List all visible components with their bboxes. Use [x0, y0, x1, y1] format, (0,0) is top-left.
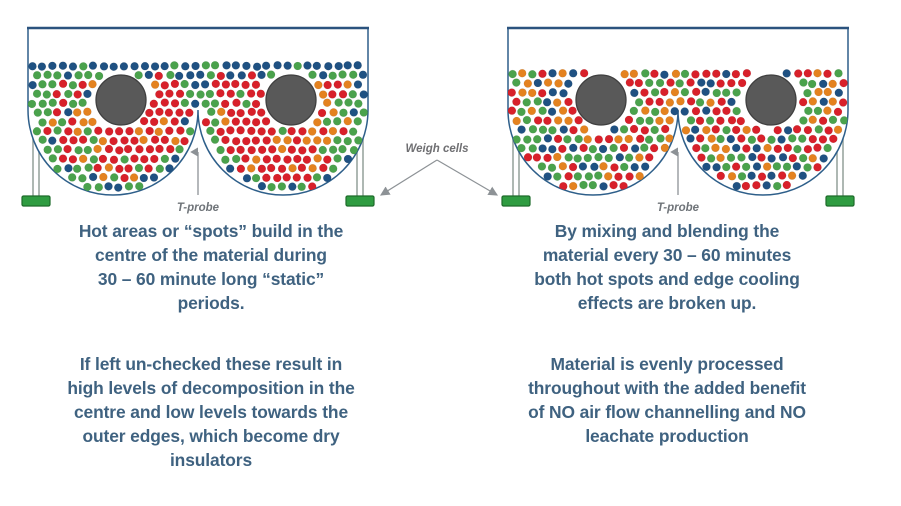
material-particle — [538, 70, 546, 78]
material-particle — [773, 182, 781, 190]
material-particle — [681, 88, 689, 96]
material-particle — [354, 100, 362, 108]
material-particle — [778, 136, 786, 144]
material-particle — [28, 62, 36, 70]
material-particle — [803, 89, 811, 97]
material-particle — [298, 183, 306, 191]
material-particle — [728, 116, 736, 124]
material-particle — [344, 137, 352, 145]
material-particle — [518, 89, 526, 97]
material-particle — [34, 109, 42, 117]
material-particle — [702, 70, 710, 78]
material-particle — [671, 107, 679, 115]
material-particle — [544, 172, 552, 180]
material-particle — [625, 154, 633, 162]
material-particle — [697, 79, 705, 87]
material-particle — [773, 162, 781, 170]
material-particle — [574, 154, 582, 162]
material-particle — [161, 81, 169, 89]
material-particle — [202, 100, 210, 108]
material-particle — [835, 89, 843, 97]
material-particle — [687, 79, 695, 87]
material-particle — [330, 108, 338, 116]
material-particle — [150, 100, 158, 108]
material-particle — [252, 137, 260, 145]
material-particle — [737, 135, 745, 143]
material-particle — [793, 162, 801, 170]
material-particle — [752, 126, 760, 134]
material-particle — [599, 145, 607, 153]
material-particle — [360, 108, 368, 116]
material-particle — [140, 117, 148, 125]
material-particle — [580, 181, 588, 189]
material-particle — [293, 155, 301, 163]
material-particle — [819, 135, 827, 143]
material-particle — [635, 98, 643, 106]
material-particle — [84, 71, 92, 79]
material-particle — [161, 155, 169, 163]
material-particle — [798, 135, 806, 143]
material-particle — [191, 81, 199, 89]
material-particle — [758, 173, 766, 181]
material-particle — [641, 69, 649, 77]
material-particle — [171, 118, 179, 126]
material-particle — [650, 70, 658, 78]
material-particle — [217, 146, 225, 154]
material-particle — [323, 118, 331, 126]
material-particle — [247, 90, 255, 98]
material-particle — [53, 165, 61, 173]
material-particle — [676, 79, 684, 87]
material-particle — [528, 107, 536, 115]
material-particle — [221, 100, 229, 108]
material-particle — [293, 174, 301, 182]
material-particle — [79, 136, 87, 144]
material-particle — [528, 70, 536, 78]
material-particle — [258, 146, 266, 154]
material-particle — [553, 99, 561, 107]
material-particle — [727, 135, 735, 143]
material-particle — [534, 79, 542, 87]
material-particle — [283, 156, 291, 164]
material-particle — [211, 136, 219, 144]
material-particle — [752, 181, 760, 189]
material-particle — [69, 63, 77, 71]
material-particle — [544, 154, 552, 162]
material-particle — [696, 134, 704, 142]
material-particle — [788, 134, 796, 142]
material-particle — [625, 116, 633, 124]
material-particle — [222, 81, 230, 89]
material-particle — [217, 108, 225, 116]
material-particle — [641, 126, 649, 134]
material-particle — [799, 117, 807, 125]
material-particle — [708, 135, 716, 143]
material-particle — [722, 89, 730, 97]
material-particle — [252, 156, 260, 164]
caption-line: throughout with the added benefit — [470, 376, 864, 400]
material-particle — [656, 98, 664, 106]
material-particle — [594, 153, 602, 161]
material-particle — [165, 109, 173, 117]
material-particle — [206, 127, 214, 135]
material-particle — [237, 126, 245, 134]
material-particle — [610, 163, 618, 171]
material-particle — [599, 162, 607, 170]
material-particle — [517, 108, 525, 116]
material-particle — [543, 117, 551, 125]
material-particle — [722, 163, 730, 171]
material-particle — [236, 90, 244, 98]
material-particle — [273, 136, 281, 144]
material-particle — [610, 181, 618, 189]
material-particle — [202, 118, 210, 126]
material-particle — [783, 163, 791, 171]
material-particle — [85, 164, 93, 172]
material-particle — [732, 126, 740, 134]
material-particle — [687, 97, 695, 105]
material-particle — [764, 144, 772, 152]
material-particle — [774, 145, 782, 153]
caption-line: centre and low levels towards the — [18, 400, 404, 424]
material-particle — [774, 126, 782, 134]
material-particle — [554, 135, 562, 143]
material-particle — [48, 137, 56, 145]
material-particle — [620, 163, 628, 171]
material-particle — [155, 108, 163, 116]
material-particle — [788, 172, 796, 180]
material-particle — [360, 90, 368, 98]
material-particle — [641, 163, 649, 171]
left-vessel: T-probe — [22, 28, 374, 214]
material-particle — [563, 135, 571, 143]
material-particle — [681, 70, 689, 78]
material-particle — [600, 182, 608, 190]
material-particle — [349, 71, 357, 79]
material-particle — [334, 81, 342, 89]
material-particle — [74, 90, 82, 98]
material-particle — [39, 119, 47, 127]
material-particle — [528, 89, 536, 97]
material-particle — [283, 173, 291, 181]
caption-line: Material is evenly processed — [470, 352, 864, 376]
material-particle — [313, 118, 321, 126]
material-particle — [59, 80, 67, 88]
material-particle — [645, 136, 653, 144]
material-particle — [115, 165, 123, 173]
material-particle — [232, 61, 240, 69]
material-particle — [263, 137, 271, 145]
caption-line: 30 – 60 minute long “static” — [18, 267, 404, 291]
material-particle — [630, 89, 638, 97]
material-particle — [783, 181, 791, 189]
material-particle — [570, 126, 578, 134]
material-particle — [722, 70, 730, 78]
material-particle — [349, 90, 357, 98]
material-particle — [661, 125, 669, 133]
weigh-cells-arrow-right — [437, 160, 497, 195]
material-particle — [166, 71, 174, 79]
material-particle — [176, 145, 184, 153]
material-particle — [565, 172, 573, 180]
material-particle — [733, 182, 741, 190]
material-particle — [834, 69, 842, 77]
material-particle — [727, 98, 735, 106]
material-particle — [100, 62, 108, 70]
material-particle — [323, 99, 331, 107]
material-particle — [523, 136, 531, 144]
material-particle — [804, 107, 812, 115]
weigh-cell-right-1 — [502, 196, 530, 206]
material-particle — [793, 145, 801, 153]
caption-line: By mixing and blending the — [470, 219, 864, 243]
material-particle — [645, 79, 653, 87]
material-particle — [309, 164, 317, 172]
material-particle — [110, 156, 118, 164]
material-particle — [313, 62, 321, 70]
material-particle — [819, 80, 827, 88]
material-particle — [323, 174, 331, 182]
material-particle — [697, 154, 705, 162]
material-particle — [656, 79, 664, 87]
material-particle — [799, 98, 807, 106]
material-particle — [175, 72, 183, 80]
material-particle — [713, 163, 721, 171]
material-particle — [313, 136, 321, 144]
material-particle — [523, 98, 531, 106]
material-particle — [223, 61, 231, 69]
material-particle — [738, 172, 746, 180]
material-particle — [73, 165, 81, 173]
material-particle — [702, 107, 710, 115]
material-particle — [789, 154, 797, 162]
material-particle — [171, 137, 179, 145]
material-particle — [274, 61, 282, 69]
material-particle — [221, 156, 229, 164]
material-particle — [49, 99, 57, 107]
material-particle — [727, 154, 735, 162]
caption-line: of NO air flow channelling and NO — [470, 400, 864, 424]
material-particle — [304, 174, 312, 182]
material-particle — [569, 144, 577, 152]
material-particle — [335, 99, 343, 107]
material-particle — [635, 154, 643, 162]
material-particle — [737, 153, 745, 161]
material-particle — [574, 172, 582, 180]
material-particle — [257, 109, 265, 117]
material-particle — [354, 61, 362, 69]
material-particle — [657, 135, 665, 143]
material-particle — [323, 156, 331, 164]
material-particle — [64, 90, 72, 98]
material-particle — [44, 146, 52, 154]
material-particle — [569, 69, 577, 77]
material-particle — [211, 119, 219, 127]
material-particle — [584, 135, 592, 143]
material-particle — [197, 91, 205, 99]
material-particle — [737, 117, 745, 125]
material-particle — [748, 136, 756, 144]
material-particle — [79, 155, 87, 163]
material-particle — [671, 88, 679, 96]
material-particle — [672, 70, 680, 78]
material-particle — [538, 89, 546, 97]
material-particle — [645, 153, 653, 161]
material-particle — [728, 172, 736, 180]
material-particle — [135, 145, 143, 153]
material-particle — [242, 100, 250, 108]
material-particle — [141, 62, 149, 70]
material-particle — [564, 98, 572, 106]
material-particle — [712, 125, 720, 133]
material-particle — [293, 136, 301, 144]
material-particle — [84, 146, 92, 154]
material-particle — [64, 127, 72, 135]
material-particle — [539, 144, 547, 152]
material-particle — [59, 136, 67, 144]
material-particle — [59, 155, 67, 163]
material-particle — [344, 61, 352, 69]
material-particle — [145, 109, 153, 117]
material-particle — [329, 72, 337, 80]
material-particle — [533, 153, 541, 161]
material-particle — [309, 71, 317, 79]
material-particle — [64, 72, 72, 80]
material-particle — [354, 136, 362, 144]
material-particle — [544, 79, 552, 87]
material-particle — [273, 174, 281, 182]
material-particle — [824, 88, 832, 96]
material-particle — [263, 155, 271, 163]
material-particle — [783, 69, 791, 77]
material-particle — [95, 183, 103, 191]
material-particle — [53, 90, 61, 98]
material-particle — [706, 117, 714, 125]
material-particle — [150, 174, 158, 182]
material-particle — [48, 80, 56, 88]
material-particle — [655, 117, 663, 125]
material-particle — [660, 71, 668, 79]
material-particle — [339, 71, 347, 79]
material-particle — [44, 71, 52, 79]
material-particle — [242, 118, 250, 126]
material-particle — [815, 88, 823, 96]
material-particle — [349, 128, 357, 136]
caption-line: Hot areas or “spots” build in the — [18, 219, 404, 243]
material-particle — [560, 89, 568, 97]
material-particle — [651, 108, 659, 116]
mixer-paddle-left-2 — [266, 75, 316, 125]
material-particle — [212, 80, 220, 88]
material-particle — [742, 145, 750, 153]
material-particle — [165, 90, 173, 98]
material-particle — [241, 155, 249, 163]
material-particle — [58, 118, 66, 126]
material-particle — [512, 98, 520, 106]
material-particle — [120, 62, 128, 70]
material-particle — [54, 145, 62, 153]
material-particle — [763, 163, 771, 171]
material-particle — [717, 172, 725, 180]
material-particle — [68, 117, 76, 125]
material-particle — [99, 173, 107, 181]
material-particle — [732, 163, 740, 171]
material-particle — [339, 90, 347, 98]
material-particle — [185, 109, 193, 117]
material-particle — [718, 98, 726, 106]
material-particle — [49, 154, 57, 162]
material-particle — [253, 63, 261, 71]
material-particle — [538, 162, 546, 170]
material-particle — [75, 146, 83, 154]
material-particle — [808, 80, 816, 88]
material-particle — [758, 154, 766, 162]
material-particle — [829, 98, 837, 106]
material-particle — [279, 127, 287, 135]
material-particle — [804, 145, 812, 153]
material-particle — [589, 145, 597, 153]
material-particle — [640, 89, 648, 97]
material-particle — [150, 118, 158, 126]
material-particle — [252, 174, 260, 182]
material-particle — [196, 71, 204, 79]
material-particle — [666, 99, 674, 107]
material-particle — [43, 91, 51, 99]
material-particle — [181, 80, 189, 88]
material-particle — [262, 174, 270, 182]
material-particle — [217, 128, 225, 136]
material-particle — [701, 144, 709, 152]
material-particle — [267, 164, 275, 172]
material-particle — [585, 172, 593, 180]
material-particle — [33, 127, 41, 135]
material-particle — [548, 126, 556, 134]
material-particle — [580, 126, 588, 134]
material-particle — [284, 62, 292, 70]
material-particle — [819, 117, 827, 125]
material-particle — [80, 118, 88, 126]
material-particle — [226, 126, 234, 134]
material-particle — [151, 81, 159, 89]
material-particle — [64, 145, 72, 153]
material-particle — [151, 62, 159, 70]
material-particle — [733, 88, 741, 96]
material-particle — [539, 107, 547, 115]
material-particle — [692, 107, 700, 115]
material-particle — [564, 80, 572, 88]
material-particle — [569, 107, 577, 115]
material-particle — [722, 145, 730, 153]
material-particle — [555, 79, 563, 87]
material-particle — [717, 154, 725, 162]
material-particle — [258, 165, 266, 173]
material-particle — [324, 81, 332, 89]
material-particle — [110, 137, 118, 145]
material-particle — [319, 91, 327, 99]
material-particle — [242, 137, 250, 145]
material-particle — [206, 90, 214, 98]
material-particle — [748, 153, 756, 161]
material-particle — [238, 71, 246, 79]
caption-right-top: By mixing and blending thematerial every… — [470, 219, 864, 315]
material-particle — [155, 90, 163, 98]
material-particle — [529, 125, 537, 133]
material-particle — [565, 117, 573, 125]
material-particle — [38, 63, 46, 71]
material-particle — [707, 154, 715, 162]
material-particle — [227, 146, 235, 154]
slide-canvas: T-probe T-probe — [0, 0, 901, 506]
